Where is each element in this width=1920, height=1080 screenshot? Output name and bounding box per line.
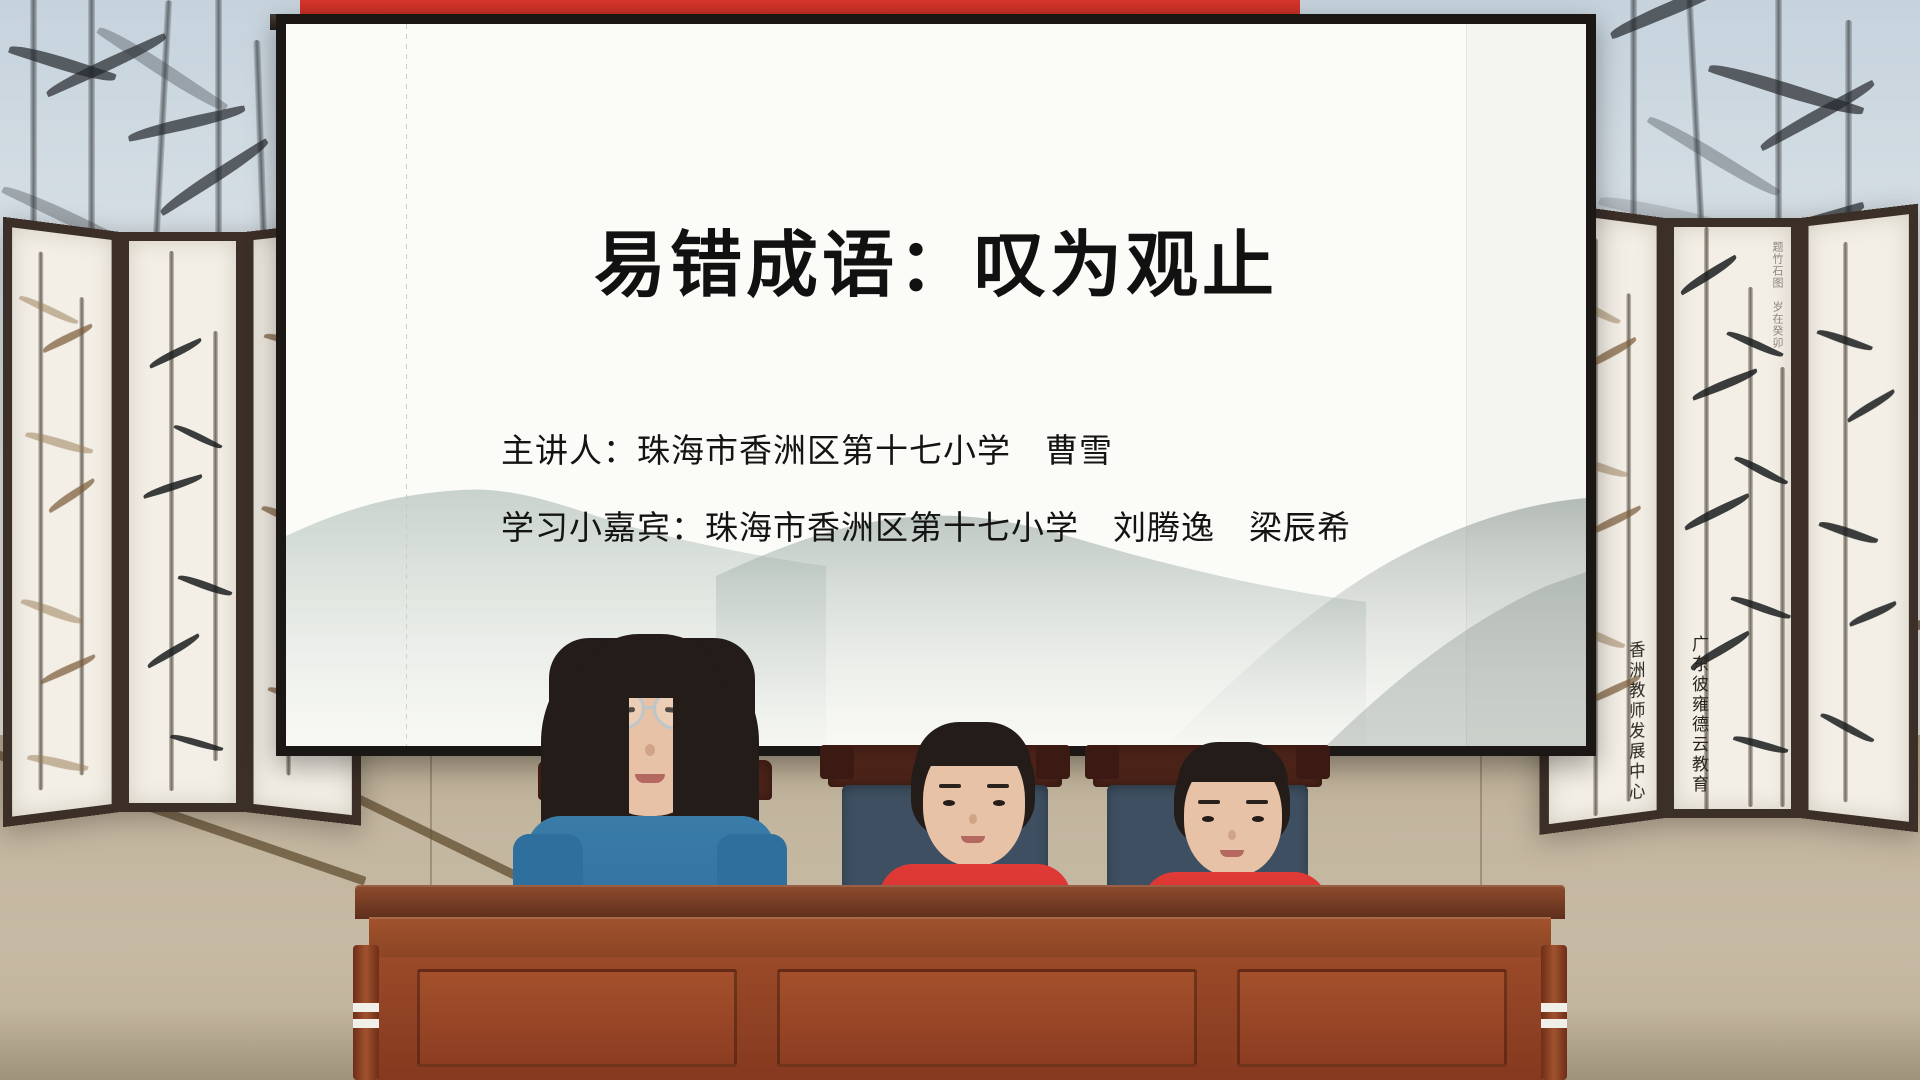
screen-caption-guangdong: 广东彼雍德云教育 [1686,635,1711,795]
screen-recording-frame: 香洲教师发展中心 题竹石图 岁在癸卯 广东彼雍德云教育 [0,0,1920,1080]
screen-caption-xiangzhou: 香洲教师发展中心 [1623,640,1647,804]
desk-apron [369,917,1551,959]
desk-top-surface [355,885,1565,919]
slide-surface: 易错成语：叹为观止 主讲人：珠海市香洲区第十七小学 曹雪 学习小嘉宾：珠海市香洲… [286,24,1586,746]
screen-panel-right-2: 题竹石图 岁在癸卯 广东彼雍德云教育 [1665,218,1800,818]
screen-seal-inscription: 题竹石图 岁在癸卯 [1770,241,1783,349]
presenter-desk [355,885,1565,1080]
desk-leg-right [1541,945,1567,1080]
screen-panel-right-3 [1800,204,1918,833]
slide-guest-line: 学习小嘉宾：珠海市香洲区第十七小学 刘腾逸 梁辰希 [501,501,1351,549]
screen-panel-left-1 [3,217,120,827]
slide-presenter-line: 主讲人：珠海市香洲区第十七小学 曹雪 [501,424,1113,472]
desk-leg-left [353,945,379,1080]
screen-panel-left-2 [120,232,245,812]
slide-title: 易错成语：叹为观止 [286,229,1586,301]
desk-front-body [377,957,1543,1080]
presentation-display[interactable]: 易错成语：叹为观止 主讲人：珠海市香洲区第十七小学 曹雪 学习小嘉宾：珠海市香洲… [276,14,1596,756]
